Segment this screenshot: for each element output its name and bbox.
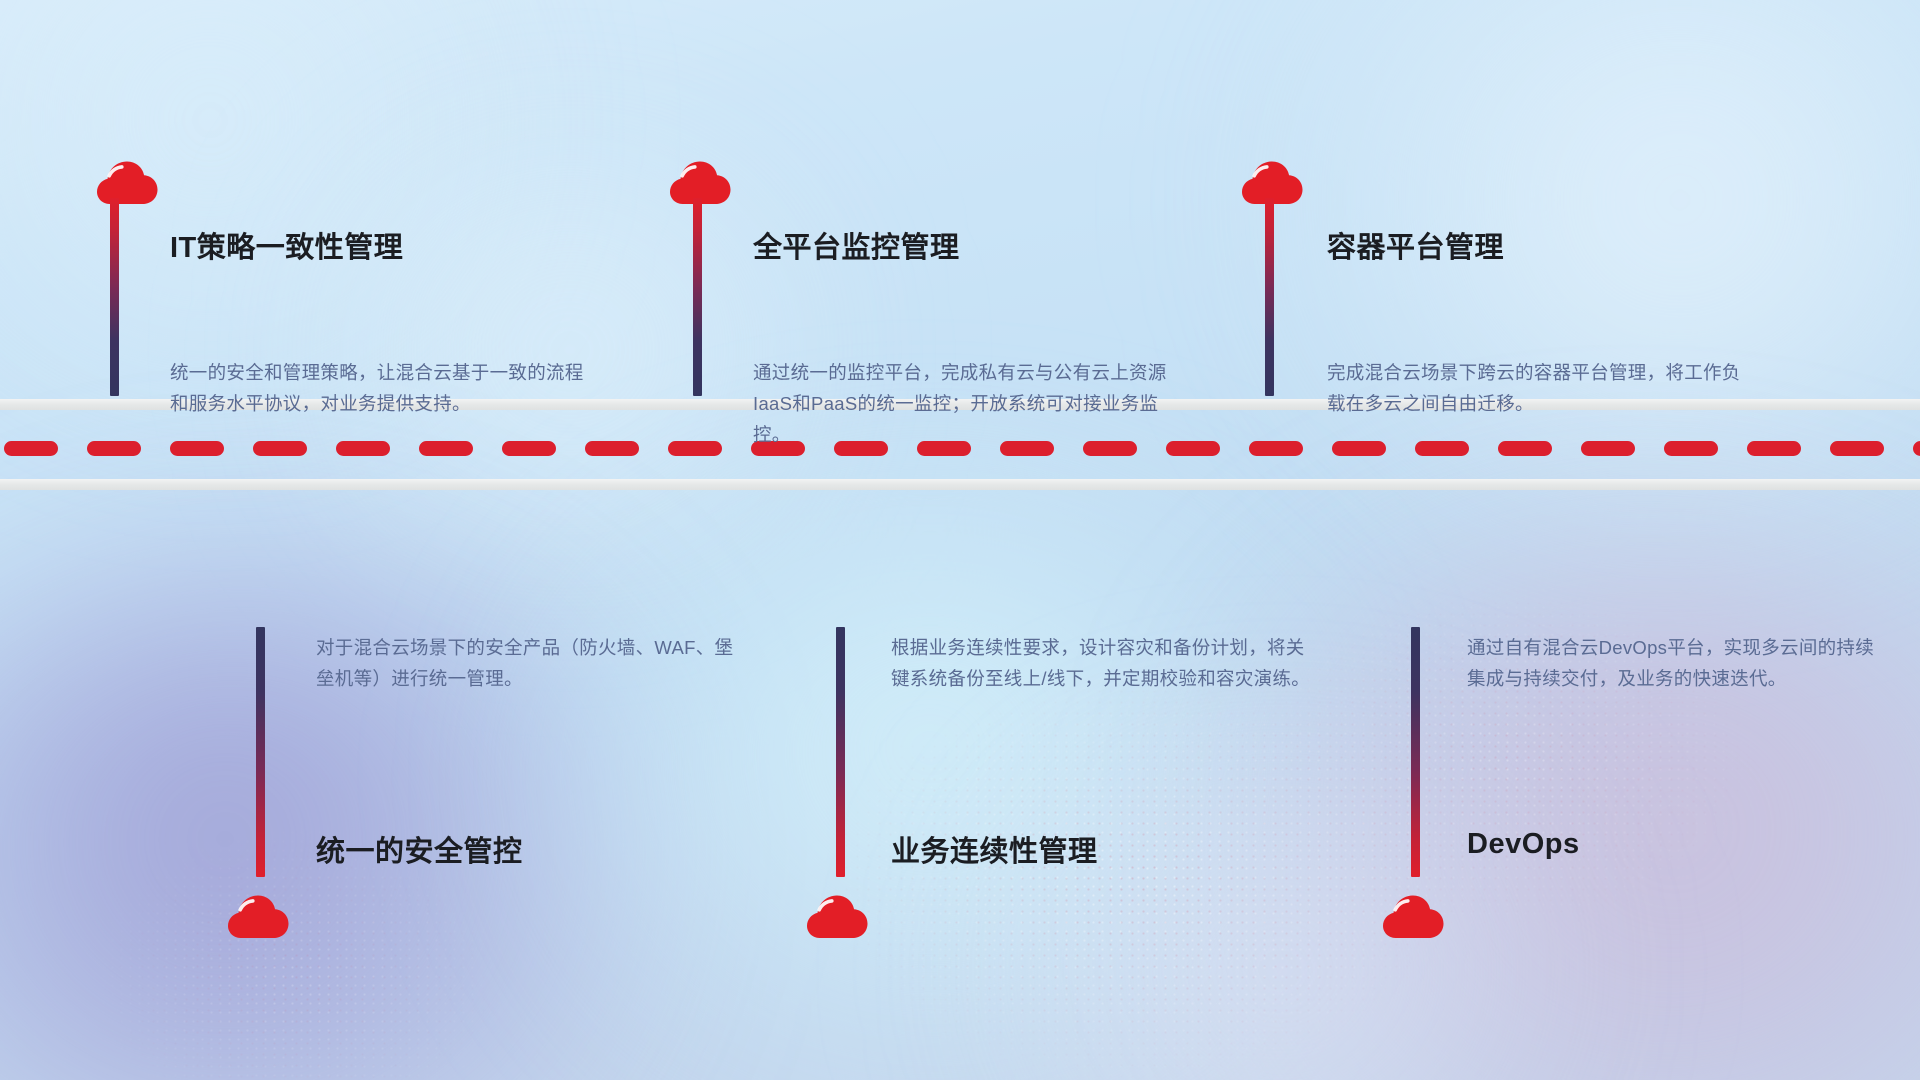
cloud-icon	[97, 159, 159, 205]
card-description: 通过自有混合云DevOps平台，实现多云间的持续集成与持续交付，及业务的快速迭代…	[1467, 632, 1887, 694]
card-description: 完成混合云场景下跨云的容器平台管理，将工作负载在多云之间自由迁移。	[1327, 357, 1747, 419]
cloud-icon	[1383, 893, 1445, 939]
road-dash-segment	[668, 441, 722, 456]
road-edge-line-bottom	[0, 479, 1920, 490]
road-dash-segment	[502, 441, 556, 456]
road-dash-segment	[1830, 441, 1884, 456]
card-title: 全平台监控管理	[753, 224, 960, 266]
card-title: IT策略一致性管理	[170, 224, 403, 266]
road-dash-segment	[419, 441, 473, 456]
timeline-stem	[1265, 198, 1274, 396]
road-dash-segment	[1747, 441, 1801, 456]
road-dash-segment	[1332, 441, 1386, 456]
road-dash-segment	[1664, 441, 1718, 456]
timeline-stem	[110, 198, 119, 396]
road-dash-segment	[170, 441, 224, 456]
road-dash-segment	[1581, 441, 1635, 456]
cloud-icon	[807, 893, 869, 939]
road-dash-segment	[87, 441, 141, 456]
card-title: 业务连续性管理	[891, 828, 1098, 870]
card-description: 统一的安全和管理策略，让混合云基于一致的流程和服务水平协议，对业务提供支持。	[170, 357, 588, 419]
cloud-icon	[228, 893, 290, 939]
card-title: 容器平台管理	[1327, 224, 1504, 266]
timeline-stem	[836, 627, 845, 877]
card-description: 对于混合云场景下的安全产品（防火墙、WAF、堡垒机等）进行统一管理。	[316, 632, 736, 694]
card-title: DevOps	[1467, 828, 1580, 861]
road-dash-segment	[585, 441, 639, 456]
road-dash-segment	[1913, 441, 1920, 456]
card-description: 通过统一的监控平台，完成私有云与公有云上资源IaaS和PaaS的统一监控；开放系…	[753, 357, 1183, 450]
card-description: 根据业务连续性要求，设计容灾和备份计划，将关键系统备份至线上/线下，并定期校验和…	[891, 632, 1311, 694]
road-dash-segment	[1249, 441, 1303, 456]
road-dash-segment	[253, 441, 307, 456]
timeline-stem	[1411, 627, 1420, 877]
road-dash-segment	[1498, 441, 1552, 456]
road-dash-segment	[4, 441, 58, 456]
timeline-stem	[256, 627, 265, 877]
road-dash-segment	[336, 441, 390, 456]
road-dash-segment	[1415, 441, 1469, 456]
card-title: 统一的安全管控	[316, 828, 523, 870]
timeline-stem	[693, 198, 702, 396]
